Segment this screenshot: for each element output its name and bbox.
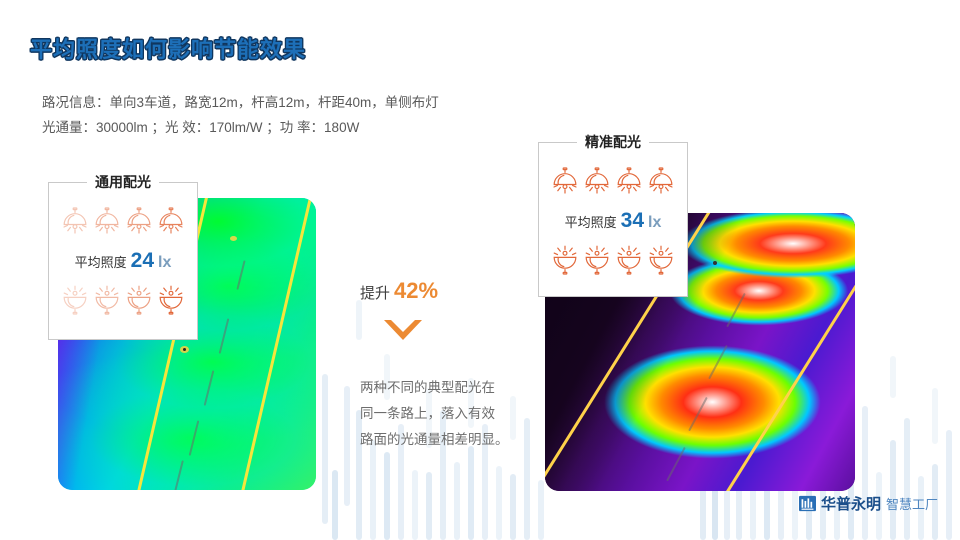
decorative-bar — [454, 462, 460, 540]
avg-illuminance-precise: 平均照度 34 lx — [539, 209, 687, 233]
road-spec-text: 路况信息：单向3车道，路宽12m，杆高12m，杆距40m，单侧布灯 光通量：30… — [42, 90, 439, 140]
decorative-bar — [946, 430, 952, 540]
lamp-down-icon — [125, 207, 153, 237]
decorative-bar — [890, 440, 896, 540]
decorative-bar — [904, 418, 910, 540]
decorative-bar — [426, 472, 432, 540]
decorative-bar — [496, 466, 502, 540]
lamp-up-icon — [61, 285, 89, 315]
avg-illuminance-label-general: 平均照度 — [75, 252, 127, 271]
description-line-1: 两种不同的典型配光在 — [360, 375, 535, 401]
road-spec-line-1: 路况信息：单向3车道，路宽12m，杆高12m，杆距40m，单侧布灯 — [42, 90, 439, 115]
decorative-bar — [412, 470, 418, 540]
avg-illuminance-general: 平均照度 24 lx — [49, 249, 197, 273]
slide-root: 平均照度如何影响节能效果 路况信息：单向3车道，路宽12m，杆高12m，杆距40… — [0, 0, 960, 540]
decorative-bar — [344, 386, 350, 506]
spec-card-precise: 精准配光 平均照度 34 lx — [538, 142, 688, 297]
chevron-down-icon — [382, 318, 535, 349]
lamp-up-icon — [647, 245, 675, 275]
lamp-row-top-general — [49, 207, 197, 237]
spec-card-general-legend: 通用配光 — [87, 172, 159, 192]
lamp-row-top-precise — [539, 167, 687, 197]
decorative-bar — [862, 406, 868, 540]
lamp-down-icon — [93, 207, 121, 237]
lamp-down-icon — [61, 207, 89, 237]
description-line-2: 同一条路上，落入有效 — [360, 401, 535, 427]
avg-illuminance-unit-general: lx — [158, 254, 171, 272]
decorative-bar — [932, 388, 938, 444]
decorative-bar — [384, 452, 390, 540]
spec-card-precise-legend: 精准配光 — [577, 132, 649, 152]
lamp-up-icon — [93, 285, 121, 315]
improvement-line: 提升 42% — [360, 278, 535, 304]
description-line-3: 路面的光通量相差明显。 — [360, 427, 535, 453]
spec-card-general: 通用配光 平均照度 24 lx — [48, 182, 198, 340]
factory-bars-icon — [799, 495, 816, 512]
decorative-bar — [468, 446, 474, 540]
comparison-description: 两种不同的典型配光在 同一条路上，落入有效 路面的光通量相差明显。 — [360, 375, 535, 453]
lamp-row-bottom-general — [49, 285, 197, 315]
decorative-bar — [370, 440, 376, 540]
brand-suffix: 智慧工厂 — [886, 494, 938, 513]
lamp-down-icon — [647, 167, 675, 197]
lamp-up-icon — [615, 245, 643, 275]
improvement-value: 42% — [394, 278, 438, 304]
lamp-up-icon — [551, 245, 579, 275]
avg-illuminance-value-general: 24 — [131, 249, 154, 273]
avg-illuminance-unit-precise: lx — [648, 214, 661, 232]
lamp-up-icon — [125, 285, 153, 315]
brand-logo: 华普永明 智慧工厂 — [799, 493, 938, 514]
decorative-bar — [322, 374, 328, 524]
lamp-down-icon — [157, 207, 185, 237]
lamp-down-icon — [583, 167, 611, 197]
improvement-label: 提升 — [360, 282, 390, 303]
road-spec-line-2: 光通量：30000lm ；光 效：170lm/W ；功 率：180W — [42, 115, 439, 140]
decorative-bar — [332, 470, 338, 540]
avg-illuminance-label-precise: 平均照度 — [565, 212, 617, 231]
lamp-up-icon — [583, 245, 611, 275]
lamp-row-bottom-precise — [539, 245, 687, 275]
lamp-down-icon — [551, 167, 579, 197]
lamp-down-icon — [615, 167, 643, 197]
decorative-bar — [510, 474, 516, 540]
page-title: 平均照度如何影响节能效果 — [30, 32, 306, 64]
brand-name: 华普永明 — [821, 493, 881, 514]
avg-illuminance-value-precise: 34 — [621, 209, 644, 233]
decorative-bar — [538, 480, 544, 540]
decorative-bar — [890, 356, 896, 398]
lamp-up-icon — [157, 285, 185, 315]
comparison-summary: 提升 42% 两种不同的典型配光在 同一条路上，落入有效 路面的光通量相差明显。 — [360, 278, 535, 453]
